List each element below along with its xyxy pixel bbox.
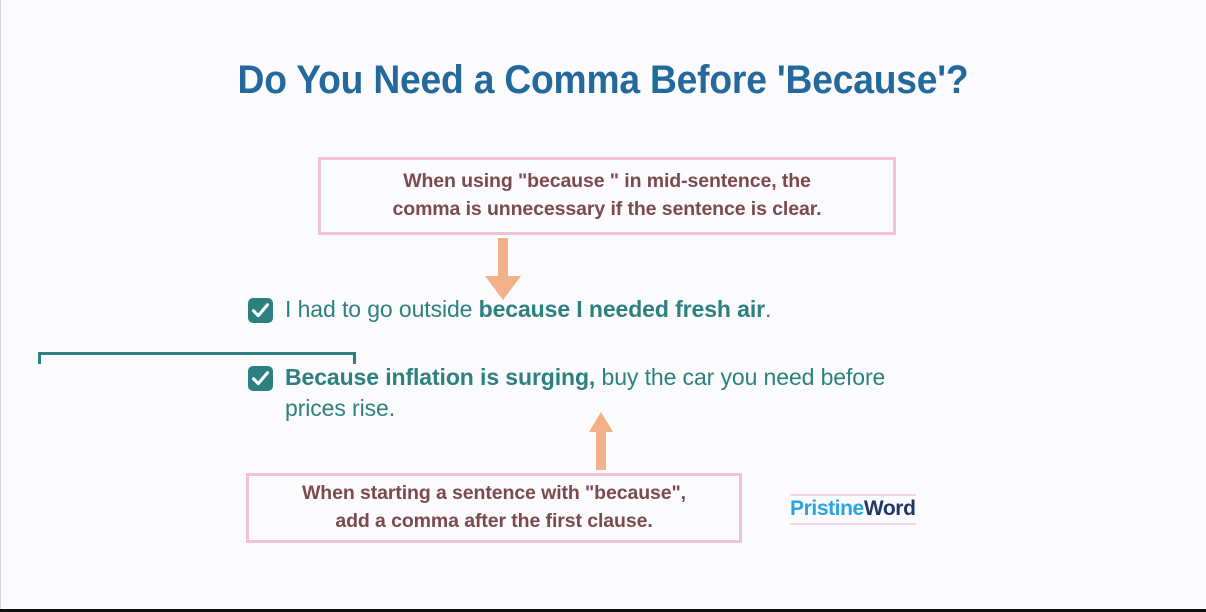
brand-logo-part-2: Word [864,497,916,520]
checkmark-icon[interactable] [248,366,273,391]
callout-top: When using "because " in mid-sentence, t… [318,157,896,235]
example-row-1: I had to go outside because I needed fre… [248,294,948,325]
example-1-suffix: . [765,296,771,322]
page-title: Do You Need a Comma Before 'Because'? [42,58,1164,103]
up-arrow-icon [588,412,614,475]
callout-top-line-2: comma is unnecessary if the sentence is … [393,196,822,224]
callout-bottom: When starting a sentence with "because",… [246,473,742,543]
checkmark-icon[interactable] [248,298,273,323]
callout-top-line-1: When using "because " in mid-sentence, t… [403,168,811,196]
clause-bracket [38,352,356,364]
example-sentence-1: I had to go outside because I needed fre… [285,294,771,325]
infographic-canvas: Do You Need a Comma Before 'Because'? Wh… [0,0,1206,612]
example-2-highlight: Because inflation is surging, [285,364,595,390]
example-1-prefix: I had to go outside [285,296,479,322]
callout-bottom-line-2: add a comma after the first clause. [335,508,652,536]
example-1-highlight: because I needed fresh air [479,296,765,322]
left-edge-rule [0,0,1,612]
brand-logo[interactable]: PristineWord [790,494,916,525]
brand-logo-part-1: Pristine [790,497,864,520]
callout-bottom-line-1: When starting a sentence with "because", [302,480,686,508]
